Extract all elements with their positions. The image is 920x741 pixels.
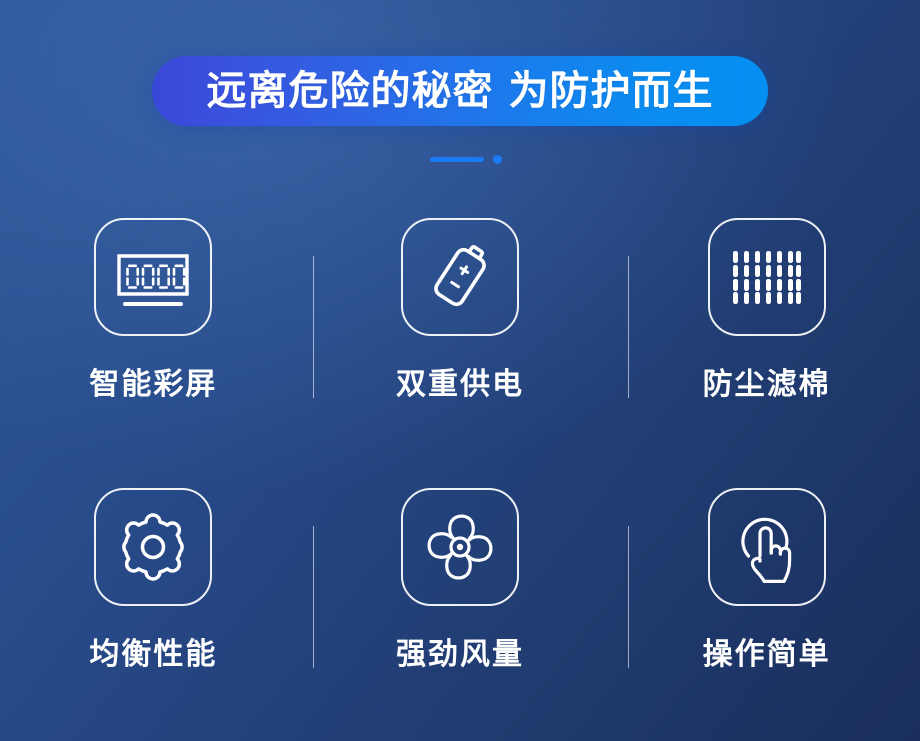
feature-label: 智能彩屏: [89, 370, 217, 400]
slide-progress-bar[interactable]: [430, 157, 484, 162]
feature-item-dust-filter[interactable]: 防尘滤棉: [613, 206, 920, 476]
touch-hand-icon: [731, 509, 803, 585]
feature-label: 强劲风量: [396, 640, 524, 670]
gear-icon: [118, 512, 188, 582]
promo-banner-page: 远离危险的秘密 为防护而生: [0, 0, 920, 741]
page-title: 远离危险的秘密 为防护而生: [207, 71, 714, 111]
headline-pill: 远离危险的秘密 为防护而生: [152, 56, 768, 126]
feature-label: 操作简单: [703, 640, 831, 670]
feature-label: 双重供电: [396, 370, 524, 400]
feature-icon-tile: [401, 488, 519, 606]
battery-icon: [422, 239, 498, 315]
slide-dot[interactable]: [493, 155, 502, 164]
carousel-indicator[interactable]: [430, 155, 502, 164]
dust-filter-grid-icon: [731, 249, 803, 305]
feature-icon-tile: [708, 218, 826, 336]
feature-item-smart-screen[interactable]: 智能彩屏: [0, 206, 307, 476]
feature-item-balanced-performance[interactable]: 均衡性能: [0, 476, 307, 741]
feature-row-1: 智能彩屏: [0, 206, 920, 476]
feature-item-easy-operation[interactable]: 操作简单: [613, 476, 920, 741]
digital-display-icon: [115, 244, 191, 310]
feature-row-2: 均衡性能: [0, 476, 920, 741]
feature-item-strong-airflow[interactable]: 强劲风量: [307, 476, 614, 741]
feature-icon-tile: [401, 218, 519, 336]
feature-icon-tile: [708, 488, 826, 606]
feature-label: 防尘滤棉: [703, 370, 831, 400]
fan-blades-icon: [422, 509, 498, 585]
feature-item-dual-power[interactable]: 双重供电: [307, 206, 614, 476]
feature-icon-tile: [94, 218, 212, 336]
feature-grid: 智能彩屏: [0, 206, 920, 741]
feature-icon-tile: [94, 488, 212, 606]
feature-label: 均衡性能: [89, 640, 217, 670]
